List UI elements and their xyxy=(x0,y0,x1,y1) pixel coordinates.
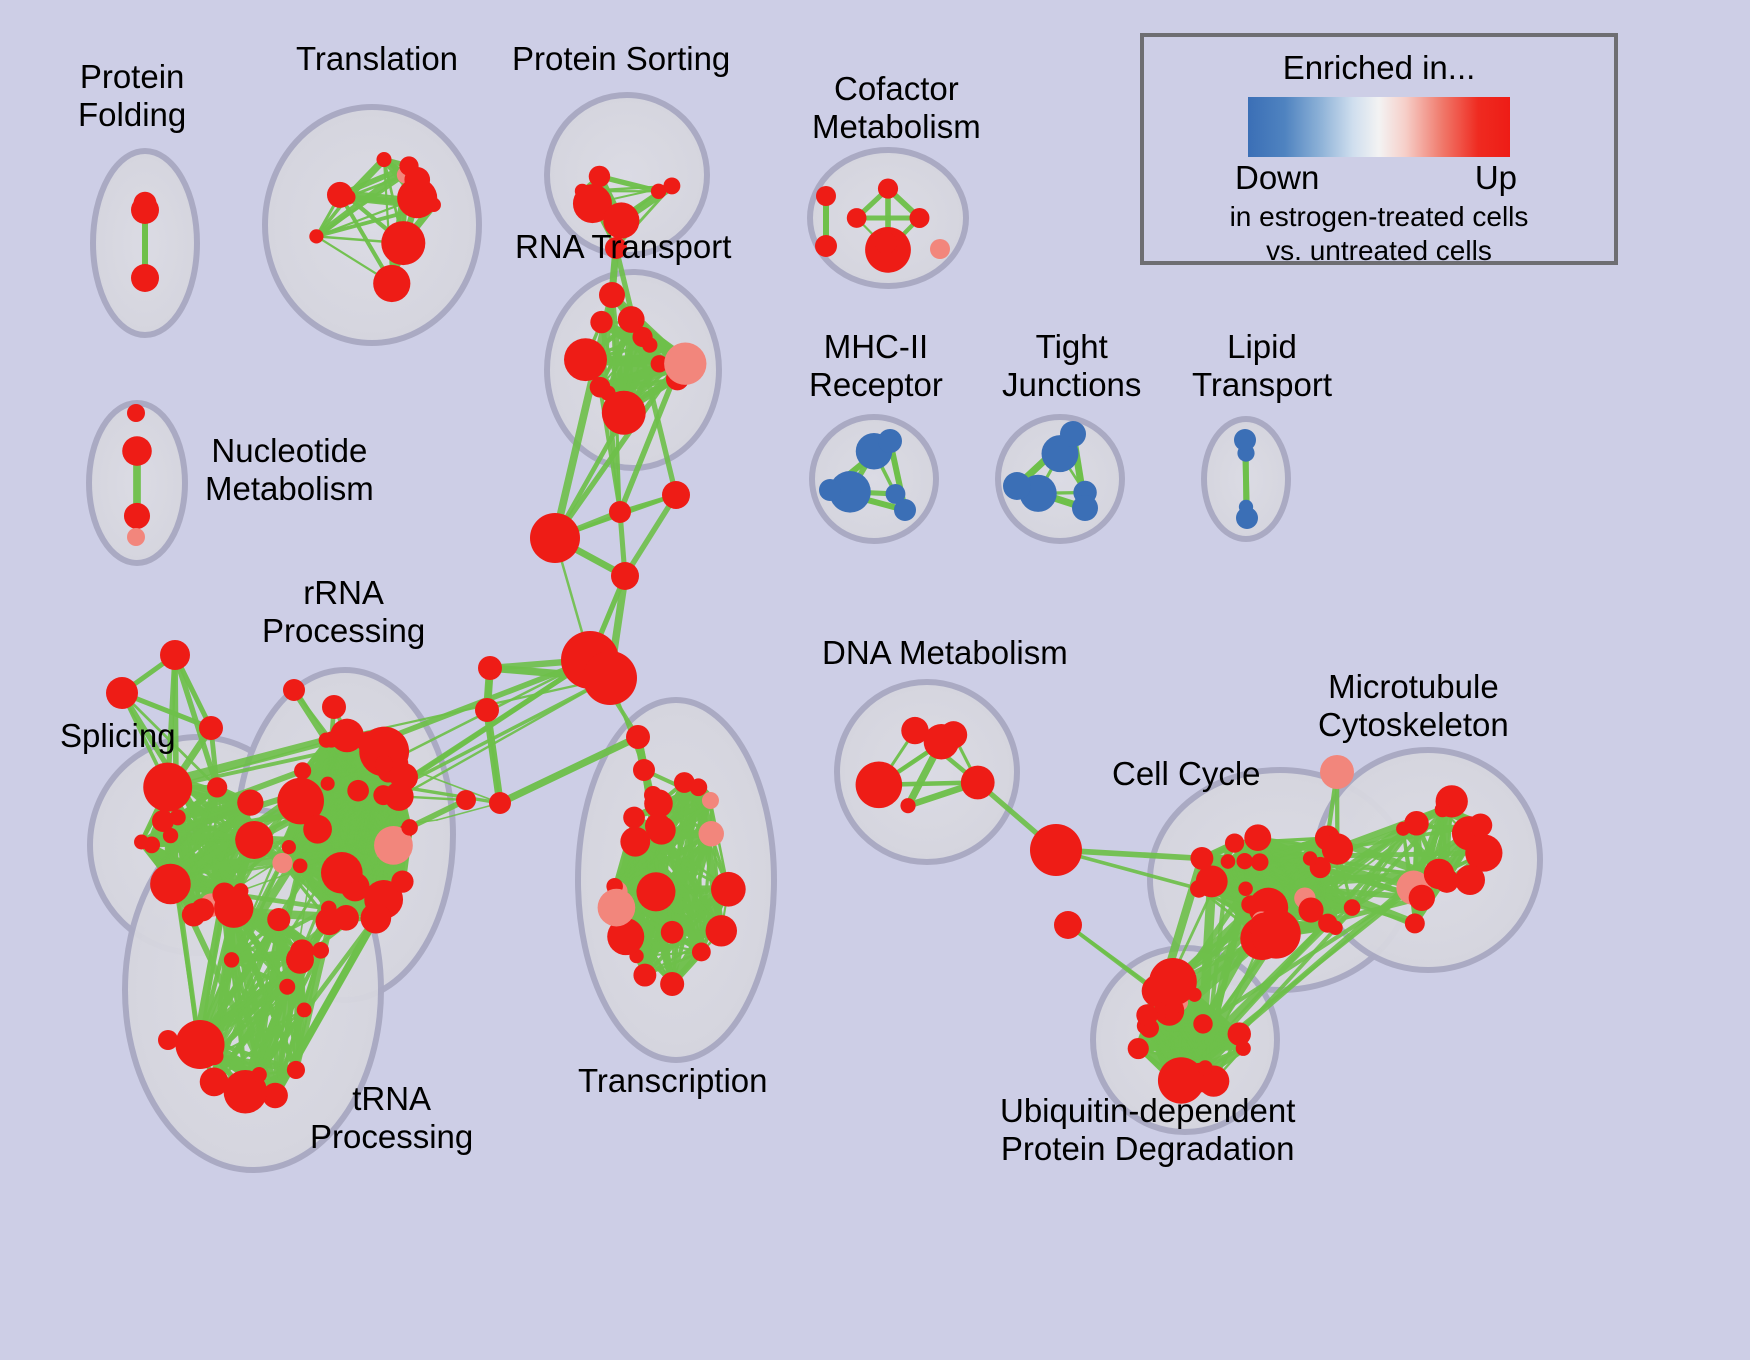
cluster-label-lipid-transport: Lipid Transport xyxy=(1192,328,1332,404)
gene-set-node-splicing[interactable] xyxy=(134,835,149,850)
gene-set-node-cell-cycle[interactable] xyxy=(1221,854,1236,869)
gene-set-node-ubiquitin-protein-degradation[interactable] xyxy=(1149,958,1197,1006)
legend-title: Enriched in... xyxy=(1144,49,1614,87)
gene-set-node-rna-transport[interactable] xyxy=(590,377,611,398)
gene-set-node-mhc-ii-receptor[interactable] xyxy=(878,429,902,453)
gene-set-node-rrna-processing[interactable] xyxy=(293,859,308,874)
gene-set-node-transcription[interactable] xyxy=(711,872,746,907)
cluster-label-nucleotide-metabolism: Nucleotide Metabolism xyxy=(205,432,374,508)
gene-set-node-rna-transport[interactable] xyxy=(664,343,706,385)
gene-set-node-cofactor-metabolism[interactable] xyxy=(816,186,836,206)
gene-set-node-backbone[interactable] xyxy=(489,792,511,814)
gene-set-node-cofactor-metabolism[interactable] xyxy=(875,232,897,254)
gene-set-node-splicing[interactable] xyxy=(238,798,254,814)
gene-set-node-protein-folding[interactable] xyxy=(131,264,159,292)
gene-set-node-cofactor-metabolism[interactable] xyxy=(878,179,898,199)
gene-set-node-trna-processing[interactable] xyxy=(251,1067,266,1082)
gene-set-node-trna-processing[interactable] xyxy=(185,1025,211,1051)
cluster-label-dna-metabolism: DNA Metabolism xyxy=(822,634,1068,672)
network-figure: Protein FoldingTranslationProtein Sortin… xyxy=(0,0,1750,1360)
gene-set-node-backbone[interactable] xyxy=(475,698,499,722)
gene-set-node-backbone[interactable] xyxy=(645,813,671,839)
gene-set-node-trna-processing[interactable] xyxy=(205,1047,223,1065)
gene-set-node-trna-processing[interactable] xyxy=(297,1003,312,1018)
legend-down-label: Down xyxy=(1235,159,1319,197)
gene-set-node-transcription[interactable] xyxy=(661,921,684,944)
gene-set-node-transcription[interactable] xyxy=(633,964,656,987)
gene-set-node-trna-processing[interactable] xyxy=(286,946,314,974)
gene-set-node-rrna-processing[interactable] xyxy=(375,755,393,773)
gene-set-node-trna-processing[interactable] xyxy=(200,1068,229,1097)
gene-set-node-satellite[interactable] xyxy=(1054,911,1082,939)
legend-endpoints: Down Up xyxy=(1229,159,1529,199)
gene-set-node-trna-processing[interactable] xyxy=(312,942,329,959)
gene-set-node-rna-transport[interactable] xyxy=(564,338,607,381)
gene-set-node-ubiquitin-protein-degradation[interactable] xyxy=(1136,1004,1158,1026)
gene-set-node-transcription[interactable] xyxy=(699,821,724,846)
cluster-label-rrna-processing: rRNA Processing xyxy=(262,574,425,650)
gene-set-node-cell-cycle[interactable] xyxy=(1196,865,1228,897)
gene-set-node-rrna-processing[interactable] xyxy=(346,881,365,900)
gene-set-node-backbone[interactable] xyxy=(644,786,662,804)
gene-set-node-satellite[interactable] xyxy=(152,810,174,832)
gene-set-node-cell-cycle[interactable] xyxy=(1318,914,1337,933)
gene-set-node-cofactor-metabolism[interactable] xyxy=(909,208,929,228)
gene-set-node-cofactor-metabolism[interactable] xyxy=(847,208,867,228)
gene-set-node-nucleotide-metabolism[interactable] xyxy=(127,404,145,422)
gene-set-node-transcription[interactable] xyxy=(620,827,650,857)
legend-subtitle-line-2: vs. untreated cells xyxy=(1144,235,1614,267)
gene-set-node-satellite[interactable] xyxy=(322,695,346,719)
gene-set-node-rrna-processing[interactable] xyxy=(347,780,369,802)
gene-set-node-rrna-processing[interactable] xyxy=(282,840,296,854)
gene-set-node-satellite[interactable] xyxy=(1320,755,1354,789)
cluster-label-mhc-ii-receptor: MHC-II Receptor xyxy=(809,328,943,404)
gene-set-node-transcription[interactable] xyxy=(674,772,695,793)
cluster-label-rna-transport: RNA Transport xyxy=(515,228,731,266)
gene-set-node-tight-junctions[interactable] xyxy=(1060,421,1086,447)
gene-set-node-microtubule-cytoskeleton[interactable] xyxy=(1435,802,1451,818)
gene-set-node-transcription[interactable] xyxy=(692,943,711,962)
gene-set-node-backbone[interactable] xyxy=(662,481,690,509)
gene-set-node-translation[interactable] xyxy=(399,156,418,175)
cluster-label-splicing: Splicing xyxy=(60,717,176,755)
gene-set-node-tight-junctions[interactable] xyxy=(1003,472,1031,500)
gene-set-node-lipid-transport[interactable] xyxy=(1234,429,1256,451)
gene-set-node-translation[interactable] xyxy=(309,229,323,243)
gene-set-node-transcription[interactable] xyxy=(623,807,645,829)
gene-set-node-satellite[interactable] xyxy=(1030,824,1082,876)
gene-set-node-transcription[interactable] xyxy=(702,792,719,809)
gene-set-node-transcription[interactable] xyxy=(636,872,675,911)
gene-set-node-satellite[interactable] xyxy=(456,790,476,810)
gene-set-node-cell-cycle[interactable] xyxy=(1225,833,1244,852)
gene-set-node-ubiquitin-protein-degradation[interactable] xyxy=(1198,1060,1213,1075)
gene-set-node-satellite[interactable] xyxy=(1455,865,1485,895)
gene-set-node-transcription[interactable] xyxy=(706,915,737,946)
gene-set-node-trna-processing[interactable] xyxy=(287,1061,305,1079)
gene-set-node-trna-processing[interactable] xyxy=(279,979,295,995)
gene-set-node-satellite[interactable] xyxy=(390,763,418,791)
cluster-label-protein-folding: Protein Folding xyxy=(78,58,186,134)
cluster-label-cell-cycle: Cell Cycle xyxy=(1112,755,1261,793)
gene-set-node-rna-transport[interactable] xyxy=(602,391,646,435)
gene-set-node-microtubule-cytoskeleton[interactable] xyxy=(1409,885,1435,911)
gene-set-node-ubiquitin-protein-degradation[interactable] xyxy=(1228,1022,1251,1045)
gene-set-node-cell-cycle[interactable] xyxy=(1322,833,1353,864)
gene-set-node-backbone[interactable] xyxy=(609,501,631,523)
gene-set-node-rrna-processing[interactable] xyxy=(303,815,332,844)
gene-set-node-trna-processing[interactable] xyxy=(267,908,290,931)
gene-set-node-splicing[interactable] xyxy=(163,767,188,792)
gene-set-node-protein-folding[interactable] xyxy=(131,196,159,224)
cluster-label-cofactor-metabolism: Cofactor Metabolism xyxy=(812,70,981,146)
gene-set-node-protein-sorting[interactable] xyxy=(589,166,610,187)
cluster-blob-translation xyxy=(265,107,479,343)
gene-set-node-rrna-processing[interactable] xyxy=(361,903,392,934)
cluster-label-tight-junctions: Tight Junctions xyxy=(1002,328,1141,404)
gene-set-node-cell-cycle[interactable] xyxy=(1244,825,1270,851)
gene-set-node-cell-cycle[interactable] xyxy=(1238,882,1252,896)
gene-set-node-splicing[interactable] xyxy=(207,777,227,797)
gene-set-node-translation[interactable] xyxy=(327,182,353,208)
gene-set-node-satellite[interactable] xyxy=(106,677,138,709)
cluster-label-microtubule-cytoskeleton: Microtubule Cytoskeleton xyxy=(1318,668,1509,744)
gene-set-node-translation[interactable] xyxy=(376,152,391,167)
gene-set-node-splicing[interactable] xyxy=(235,821,273,859)
gene-set-node-trna-processing[interactable] xyxy=(212,882,236,906)
gene-set-node-dna-metabolism[interactable] xyxy=(900,798,915,813)
gene-set-node-backbone[interactable] xyxy=(478,656,502,680)
gene-set-node-dna-metabolism[interactable] xyxy=(924,724,959,759)
gene-set-node-rna-transport[interactable] xyxy=(642,337,657,352)
gene-set-node-cofactor-metabolism[interactable] xyxy=(930,239,950,259)
gene-set-node-rrna-processing[interactable] xyxy=(272,853,292,873)
gene-set-node-satellite[interactable] xyxy=(160,640,190,670)
gene-set-node-satellite[interactable] xyxy=(199,716,223,740)
gene-set-node-ubiquitin-protein-degradation[interactable] xyxy=(1165,1009,1179,1023)
gene-set-node-ubiquitin-protein-degradation[interactable] xyxy=(1193,1014,1212,1033)
legend-up-label: Up xyxy=(1475,159,1517,197)
gene-set-node-cell-cycle[interactable] xyxy=(1251,853,1269,871)
gene-set-node-splicing[interactable] xyxy=(191,898,214,921)
gene-set-node-backbone[interactable] xyxy=(530,513,580,563)
gene-set-node-splicing[interactable] xyxy=(150,864,191,905)
gene-set-node-microtubule-cytoskeleton[interactable] xyxy=(1469,813,1493,837)
gene-set-node-satellite[interactable] xyxy=(158,1030,178,1050)
gene-set-node-lipid-transport[interactable] xyxy=(1236,507,1258,529)
legend-colorbar xyxy=(1248,97,1510,157)
gene-set-node-cell-cycle[interactable] xyxy=(1251,909,1301,959)
gene-set-node-transcription[interactable] xyxy=(598,889,636,927)
gene-set-node-rrna-processing[interactable] xyxy=(294,762,311,779)
gene-set-node-rrna-processing[interactable] xyxy=(401,819,417,835)
cluster-label-translation: Translation xyxy=(296,40,458,78)
gene-set-node-mhc-ii-receptor[interactable] xyxy=(819,479,841,501)
gene-set-node-dna-metabolism[interactable] xyxy=(961,766,995,800)
gene-set-node-translation[interactable] xyxy=(373,265,410,302)
gene-set-node-backbone[interactable] xyxy=(611,562,639,590)
gene-set-node-rna-transport[interactable] xyxy=(618,306,645,333)
cluster-label-ubiquitin-protein-degradation: Ubiquitin-dependent Protein Degradation xyxy=(1000,1092,1295,1168)
gene-set-node-ubiquitin-protein-degradation[interactable] xyxy=(1128,1038,1149,1059)
legend-panel: Enriched in... Down Up in estrogen-treat… xyxy=(1140,33,1618,265)
gene-set-node-backbone[interactable] xyxy=(583,651,637,705)
gene-set-node-rrna-processing[interactable] xyxy=(391,871,413,893)
gene-set-node-rna-transport[interactable] xyxy=(590,311,612,333)
gene-set-node-dna-metabolism[interactable] xyxy=(856,762,903,809)
gene-set-node-microtubule-cytoskeleton[interactable] xyxy=(1405,913,1425,933)
gene-set-node-translation[interactable] xyxy=(381,221,425,265)
gene-set-node-mhc-ii-receptor[interactable] xyxy=(894,499,916,521)
gene-set-node-nucleotide-metabolism[interactable] xyxy=(127,528,145,546)
cluster-label-transcription: Transcription xyxy=(578,1062,768,1100)
gene-set-node-nucleotide-metabolism[interactable] xyxy=(122,436,152,466)
gene-set-node-trna-processing[interactable] xyxy=(224,952,239,967)
gene-set-node-backbone[interactable] xyxy=(626,725,650,749)
gene-set-node-microtubule-cytoskeleton[interactable] xyxy=(1404,811,1429,836)
gene-set-node-cell-cycle[interactable] xyxy=(1237,853,1253,869)
cluster-label-protein-sorting: Protein Sorting xyxy=(512,40,730,78)
gene-set-node-backbone[interactable] xyxy=(633,759,655,781)
gene-set-node-nucleotide-metabolism[interactable] xyxy=(124,503,150,529)
gene-set-node-protein-sorting[interactable] xyxy=(663,177,680,194)
gene-set-node-rrna-processing[interactable] xyxy=(315,908,343,936)
gene-set-node-transcription[interactable] xyxy=(660,972,684,996)
gene-set-node-cell-cycle[interactable] xyxy=(1241,895,1259,913)
gene-set-node-cell-cycle[interactable] xyxy=(1344,899,1361,916)
gene-set-node-rrna-processing[interactable] xyxy=(321,777,335,791)
gene-set-node-microtubule-cytoskeleton[interactable] xyxy=(1424,859,1454,889)
gene-set-node-rrna-processing[interactable] xyxy=(330,719,364,753)
gene-set-node-tight-junctions[interactable] xyxy=(1072,495,1098,521)
gene-set-node-cell-cycle[interactable] xyxy=(1303,851,1317,865)
gene-set-node-satellite[interactable] xyxy=(283,679,305,701)
gene-set-node-backbone[interactable] xyxy=(599,282,625,308)
legend-subtitle-line-1: in estrogen-treated cells xyxy=(1144,201,1614,233)
cluster-label-trna-processing: tRNA Processing xyxy=(310,1080,473,1156)
gene-set-node-cofactor-metabolism[interactable] xyxy=(815,235,837,257)
